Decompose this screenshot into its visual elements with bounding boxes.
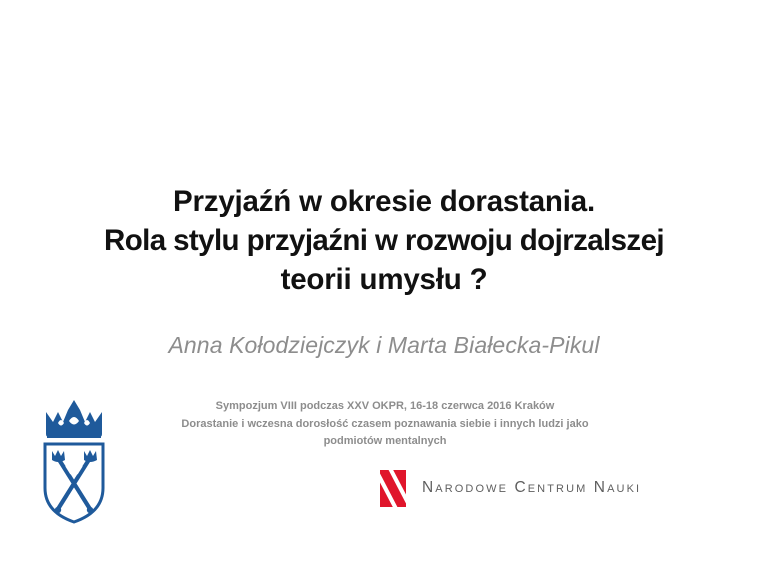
presentation-slide: Przyjaźń w okresie dorastania. Rola styl… [0,0,768,576]
title-line-1: Przyjaźń w okresie dorastania. [44,182,724,221]
slide-title: Przyjaźń w okresie dorastania. Rola styl… [44,182,724,299]
title-line-3: teorii umysłu ? [44,260,724,299]
author-list: Anna Kołodziejczyk i Marta Białecka-Piku… [44,330,724,360]
ncn-wordmark: Narodowe Centrum Nauki [422,479,641,497]
title-line-2: Rola stylu przyjaźni w rozwoju dojrzalsz… [44,221,724,260]
conference-line-2: Dorastanie i wczesna dorosłość czasem po… [124,416,646,434]
crown-and-shield-icon [38,396,110,524]
conference-details: Sympozjum VIII podczas XXV OKPR, 16-18 c… [124,398,646,451]
conference-line-3: podmiotów mentalnych [124,433,646,451]
ncn-logo: Narodowe Centrum Nauki [380,468,641,508]
conference-line-1: Sympozjum VIII podczas XXV OKPR, 16-18 c… [124,398,646,416]
ncn-n-mark-icon [380,470,406,507]
